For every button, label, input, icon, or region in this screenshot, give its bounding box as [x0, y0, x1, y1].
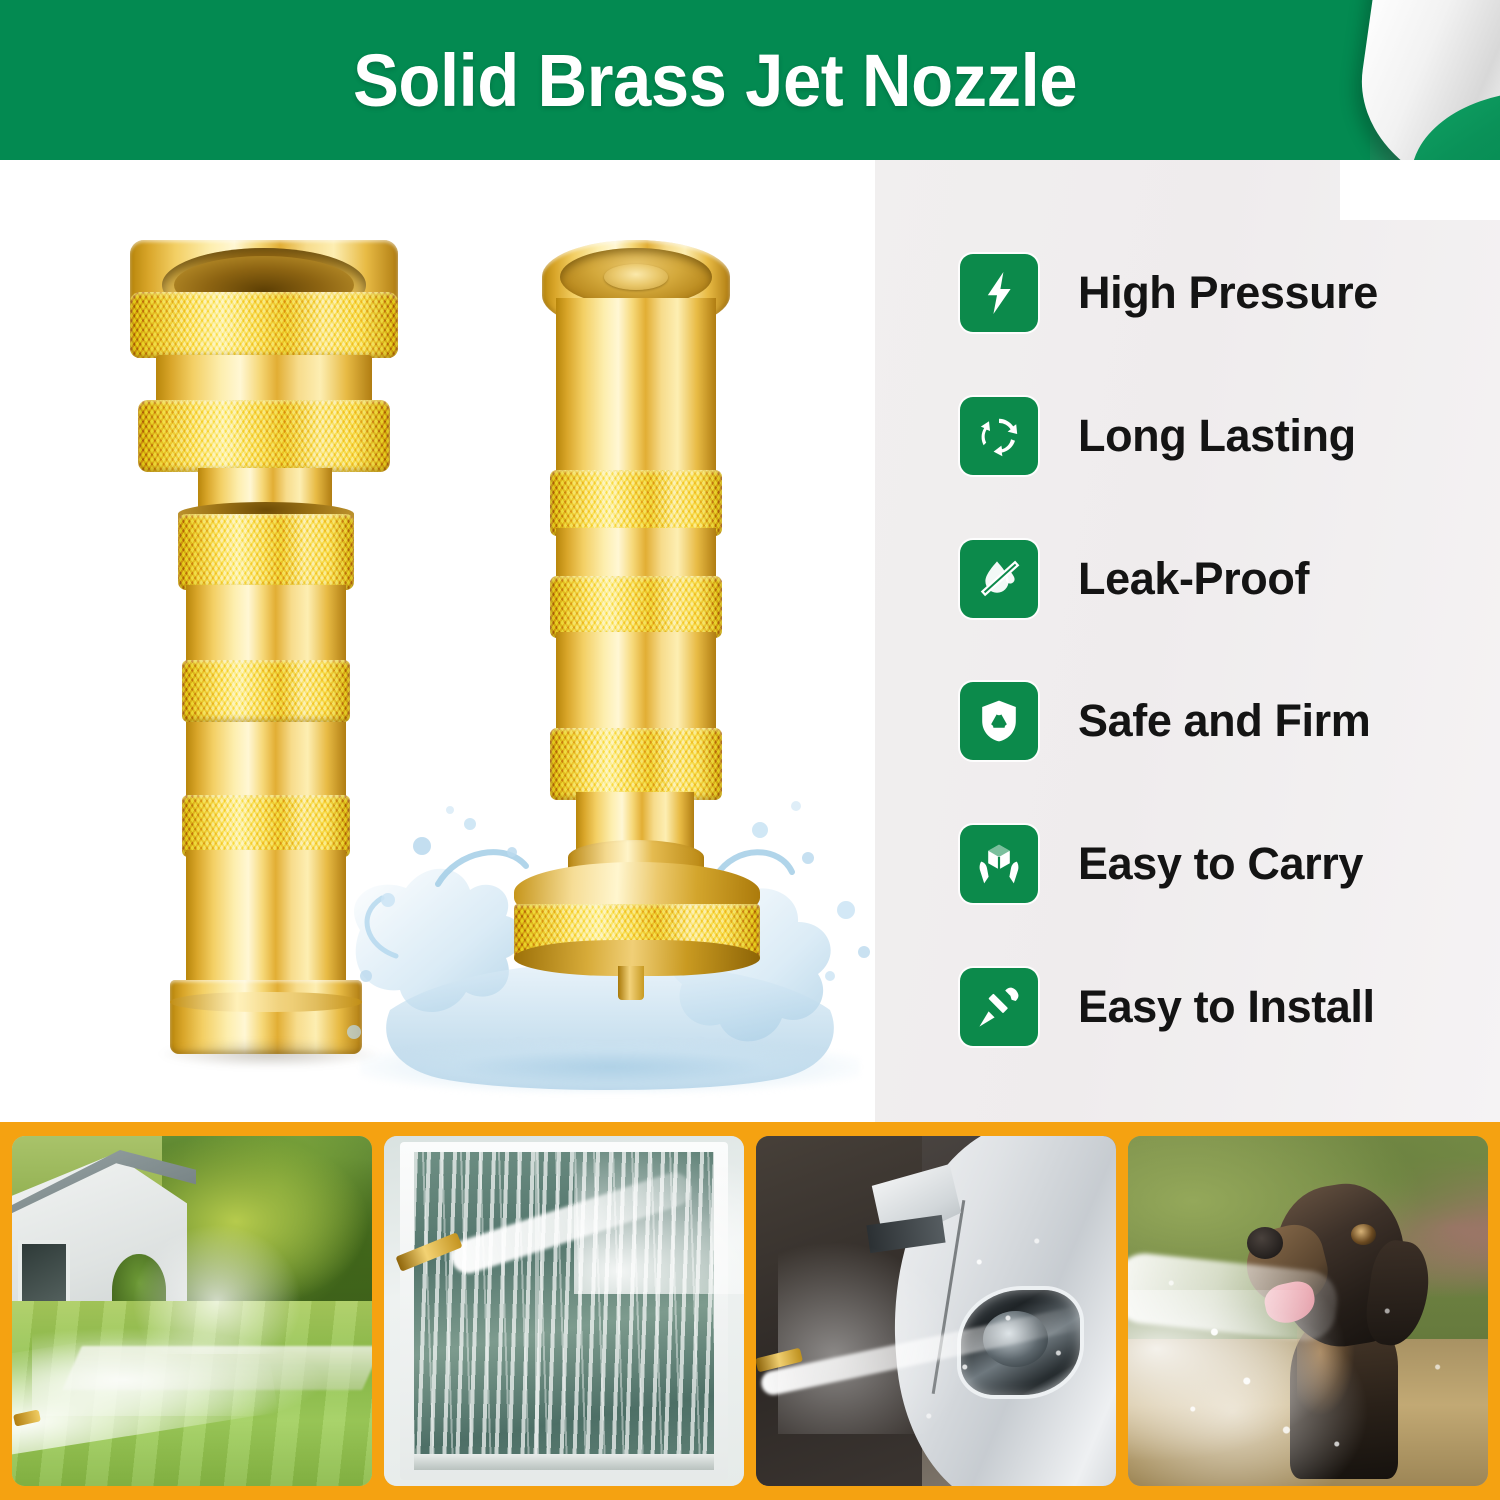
brass-jet-nozzle-tip-view-in-water-splash [520, 240, 820, 1120]
feature-label: Safe and Firm [1078, 695, 1370, 747]
water-puddle [360, 1040, 860, 1094]
water-drop-slash-icon [960, 540, 1038, 618]
feature-item-leak-proof: Leak-Proof [960, 536, 1500, 622]
nozzle2-outlet-pin [618, 966, 644, 1000]
nozzle2-knurled-ring-2 [550, 576, 722, 638]
feature-label: Easy to Install [1078, 981, 1375, 1033]
nozzle-ground-shadow [160, 1040, 380, 1068]
feature-label: Long Lasting [1078, 410, 1356, 462]
product-stage [0, 160, 875, 1122]
nozzle-knurled-ring-3 [178, 514, 354, 590]
header-banner: Solid Brass Jet Nozzle [0, 0, 1500, 160]
recycle-arrows-icon [960, 397, 1038, 475]
brass-jet-nozzle-hose-coupling-view [120, 240, 410, 1120]
shield-triangle-icon [960, 682, 1038, 760]
screwdriver-icon [960, 968, 1038, 1046]
photo-pet-washing [1128, 1136, 1488, 1486]
feature-item-high-pressure: High Pressure [960, 250, 1500, 336]
photo-window-washing [384, 1136, 744, 1486]
feature-item-safe-and-firm: Safe and Firm [960, 678, 1500, 764]
nozzle2-knurled-ring-1 [550, 470, 722, 536]
nozzle-knurled-ring-4 [182, 660, 350, 722]
feature-item-easy-to-install: Easy to Install [960, 964, 1500, 1050]
feature-label: Easy to Carry [1078, 838, 1363, 890]
usage-photo-strip [0, 1122, 1500, 1500]
hands-holding-box-icon [960, 825, 1038, 903]
photo-lawn-sprinkler [12, 1136, 372, 1486]
page-title: Solid Brass Jet Nozzle [50, 0, 1380, 160]
feature-label: High Pressure [1078, 267, 1378, 319]
feature-label: Leak-Proof [1078, 553, 1309, 605]
photo-car-washing [756, 1136, 1116, 1486]
nozzle-upper-barrel [556, 298, 716, 496]
nozzle-base-lip [170, 992, 362, 1012]
nozzle-knurled-ring-2 [138, 400, 390, 472]
nozzle-tip-center-disc [604, 264, 668, 290]
nozzle-knurled-ring-5 [182, 795, 350, 857]
feature-list: High Pressure Long Lasting Leak-Proof [960, 250, 1500, 1050]
page-curl-mask [1340, 160, 1500, 220]
lightning-bolt-icon [960, 254, 1038, 332]
feature-item-easy-to-carry: Easy to Carry [960, 821, 1500, 907]
nozzle-knurled-ring-1 [130, 292, 398, 358]
feature-item-long-lasting: Long Lasting [960, 393, 1500, 479]
nozzle2-knurled-ring-3 [550, 728, 722, 800]
